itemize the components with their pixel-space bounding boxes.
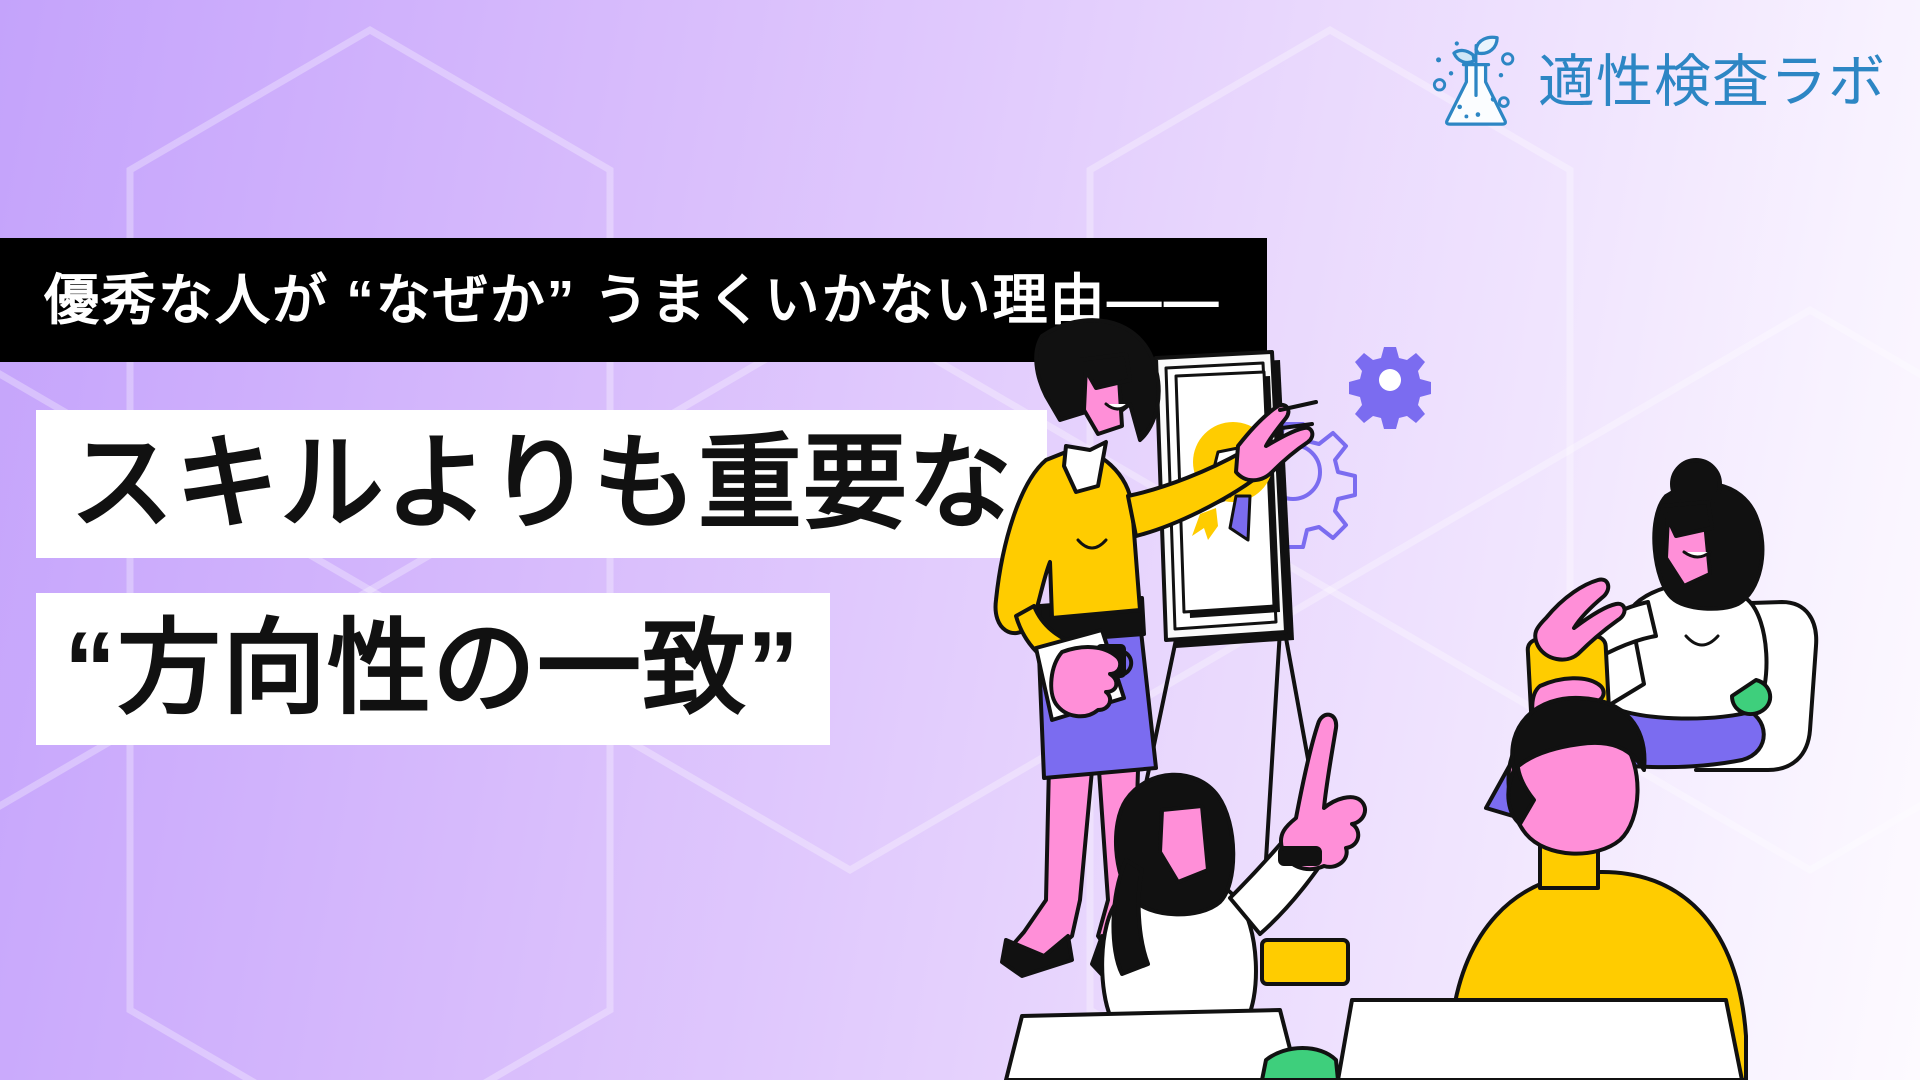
business-presentation-illustration xyxy=(980,300,1920,1080)
headline-line-1-text: スキルよりも重要な xyxy=(70,432,1013,536)
headline-line-2-text: “方向性の一致” xyxy=(64,617,800,721)
slide-canvas: 適性検査ラボ 優秀な人が “なぜか” うまくいかない理由—— スキルよりも重要な… xyxy=(0,0,1920,1080)
gear-small-icon xyxy=(1349,347,1431,429)
flask-sprout-icon xyxy=(1428,32,1524,133)
brand-logo-text: 適性検査ラボ xyxy=(1538,54,1886,111)
headline-line-2: “方向性の一致” xyxy=(36,593,830,745)
headline-line-1: スキルよりも重要な xyxy=(36,410,1047,558)
brand-logo[interactable]: 適性検査ラボ xyxy=(1428,32,1886,133)
